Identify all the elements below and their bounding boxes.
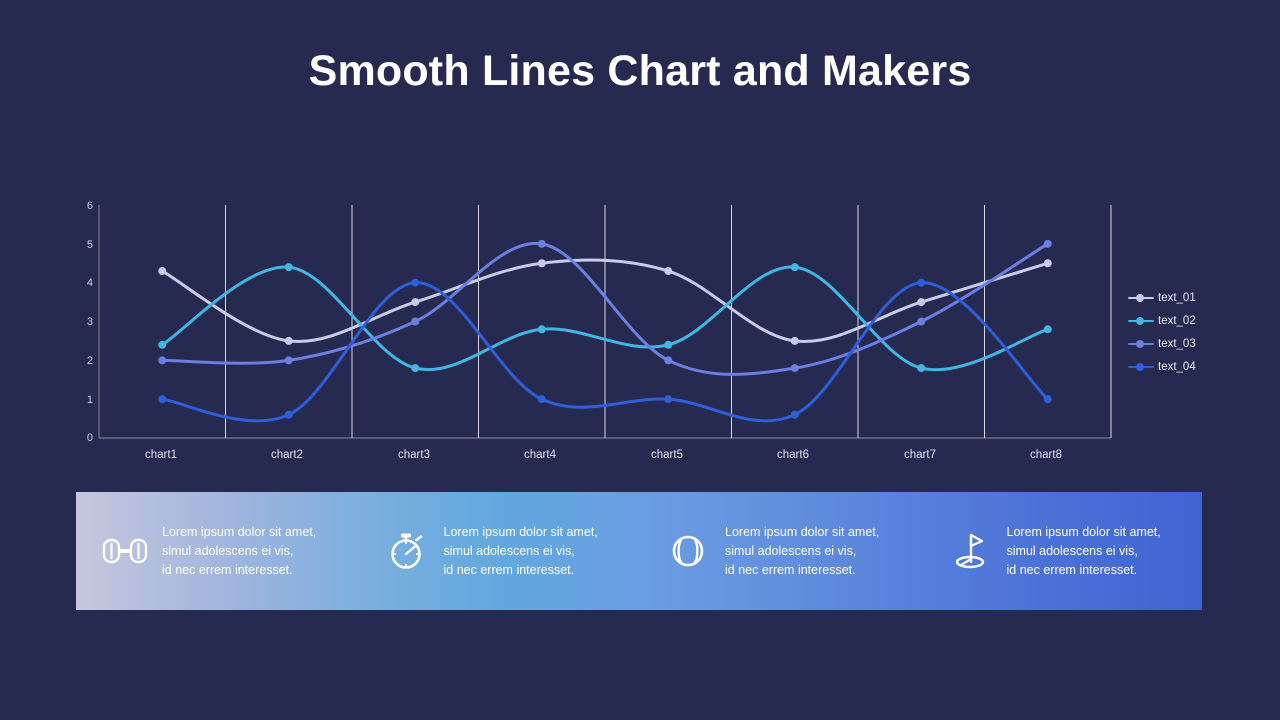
banner-card-2[interactable]: Lorem ipsum dolor sit amet, simul adoles… <box>358 492 640 610</box>
data-point <box>411 318 419 326</box>
banner-card-3[interactable]: Lorem ipsum dolor sit amet, simul adoles… <box>639 492 921 610</box>
banner-text-line3: id nec errem interesset. <box>444 561 598 580</box>
data-point <box>917 298 925 306</box>
banner-card-4[interactable]: Lorem ipsum dolor sit amet, simul adoles… <box>921 492 1203 610</box>
line-chart: 6 5 4 3 2 1 0 chart1 chart2 chart3 chart… <box>0 0 1280 480</box>
banner-card-1[interactable]: Lorem ipsum dolor sit amet, simul adoles… <box>76 492 358 610</box>
banner-text-line2: simul adolescens ei vis, <box>444 542 598 561</box>
banner-text-line3: id nec errem interesset. <box>1007 561 1161 580</box>
data-point <box>158 356 166 364</box>
golf-flag-icon <box>943 528 997 574</box>
legend-item-text_02[interactable]: text_02 <box>1128 309 1268 332</box>
data-point <box>791 364 799 372</box>
banner-text-line2: simul adolescens ei vis, <box>725 542 879 561</box>
banner-text-line1: Lorem ipsum dolor sit amet, <box>1007 523 1161 542</box>
data-point <box>158 341 166 349</box>
data-point <box>285 263 293 271</box>
legend-swatch-icon <box>1128 292 1154 304</box>
data-point <box>411 298 419 306</box>
legend-swatch-icon <box>1128 361 1154 373</box>
data-point <box>1044 240 1052 248</box>
data-point <box>917 318 925 326</box>
banner-card-text: Lorem ipsum dolor sit amet, simul adoles… <box>725 523 879 580</box>
baseball-icon <box>661 528 715 574</box>
data-point <box>285 337 293 345</box>
banner-text-line2: simul adolescens ei vis, <box>1007 542 1161 561</box>
data-point <box>1044 395 1052 403</box>
data-point <box>1044 259 1052 267</box>
legend-label: text_04 <box>1158 361 1196 373</box>
dumbbell-icon <box>98 528 152 574</box>
plot-svg <box>0 0 1280 480</box>
banner-text-line1: Lorem ipsum dolor sit amet, <box>162 523 316 542</box>
data-point <box>285 411 293 419</box>
banner-text-line1: Lorem ipsum dolor sit amet, <box>444 523 598 542</box>
feature-banner: Lorem ipsum dolor sit amet, simul adoles… <box>76 492 1202 610</box>
data-point <box>664 356 672 364</box>
data-point <box>538 395 546 403</box>
data-point <box>1044 325 1052 333</box>
data-point <box>664 267 672 275</box>
data-point <box>664 341 672 349</box>
data-point <box>411 364 419 372</box>
banner-card-text: Lorem ipsum dolor sit amet, simul adoles… <box>444 523 598 580</box>
legend-swatch-icon <box>1128 315 1154 327</box>
chart-legend: text_01 text_02 text_03 text_04 <box>1128 286 1268 378</box>
legend-label: text_01 <box>1158 292 1196 304</box>
data-point <box>538 240 546 248</box>
data-point <box>664 395 672 403</box>
data-point <box>158 267 166 275</box>
banner-text-line3: id nec errem interesset. <box>162 561 316 580</box>
data-point <box>791 263 799 271</box>
legend-item-text_01[interactable]: text_01 <box>1128 286 1268 309</box>
banner-text-line1: Lorem ipsum dolor sit amet, <box>725 523 879 542</box>
data-point <box>158 395 166 403</box>
data-point <box>538 259 546 267</box>
data-point <box>285 356 293 364</box>
data-point <box>791 411 799 419</box>
stopwatch-icon <box>380 528 434 574</box>
legend-item-text_03[interactable]: text_03 <box>1128 332 1268 355</box>
data-point <box>538 325 546 333</box>
legend-label: text_03 <box>1158 338 1196 350</box>
banner-card-text: Lorem ipsum dolor sit amet, simul adoles… <box>162 523 316 580</box>
banner-text-line3: id nec errem interesset. <box>725 561 879 580</box>
legend-label: text_02 <box>1158 315 1196 327</box>
data-point <box>411 279 419 287</box>
banner-card-text: Lorem ipsum dolor sit amet, simul adoles… <box>1007 523 1161 580</box>
data-point <box>917 364 925 372</box>
data-point <box>917 279 925 287</box>
banner-text-line2: simul adolescens ei vis, <box>162 542 316 561</box>
legend-swatch-icon <box>1128 338 1154 350</box>
data-point <box>791 337 799 345</box>
legend-item-text_04[interactable]: text_04 <box>1128 355 1268 378</box>
